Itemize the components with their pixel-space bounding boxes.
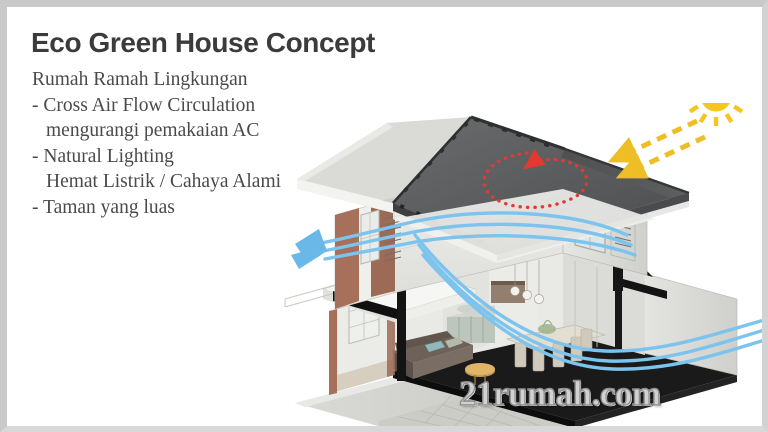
body-text-block: Rumah Ramah Lingkungan - Cross Air Flow … [32, 67, 281, 220]
sunlight-dashed-arrows [615, 121, 705, 175]
eco-house-illustration [275, 103, 762, 426]
left-facade-upper [335, 197, 401, 309]
page-title: Eco Green House Concept [31, 27, 375, 59]
body-line-5: - Taman yang luas [32, 195, 281, 221]
body-line-4: Hemat Listrik / Cahaya Alami [32, 169, 281, 195]
slide-frame: Eco Green House Concept Rumah Ramah Ling… [0, 0, 768, 432]
body-line-0: Rumah Ramah Lingkungan [32, 67, 281, 93]
body-line-3: - Natural Lighting [32, 144, 281, 170]
body-line-1: - Cross Air Flow Circulation [32, 93, 281, 119]
body-line-2: mengurangi pemakaian AC [32, 118, 281, 144]
airflow-arrowhead-left [291, 229, 327, 269]
slide-canvas: Eco Green House Concept Rumah Ramah Ling… [7, 7, 762, 426]
